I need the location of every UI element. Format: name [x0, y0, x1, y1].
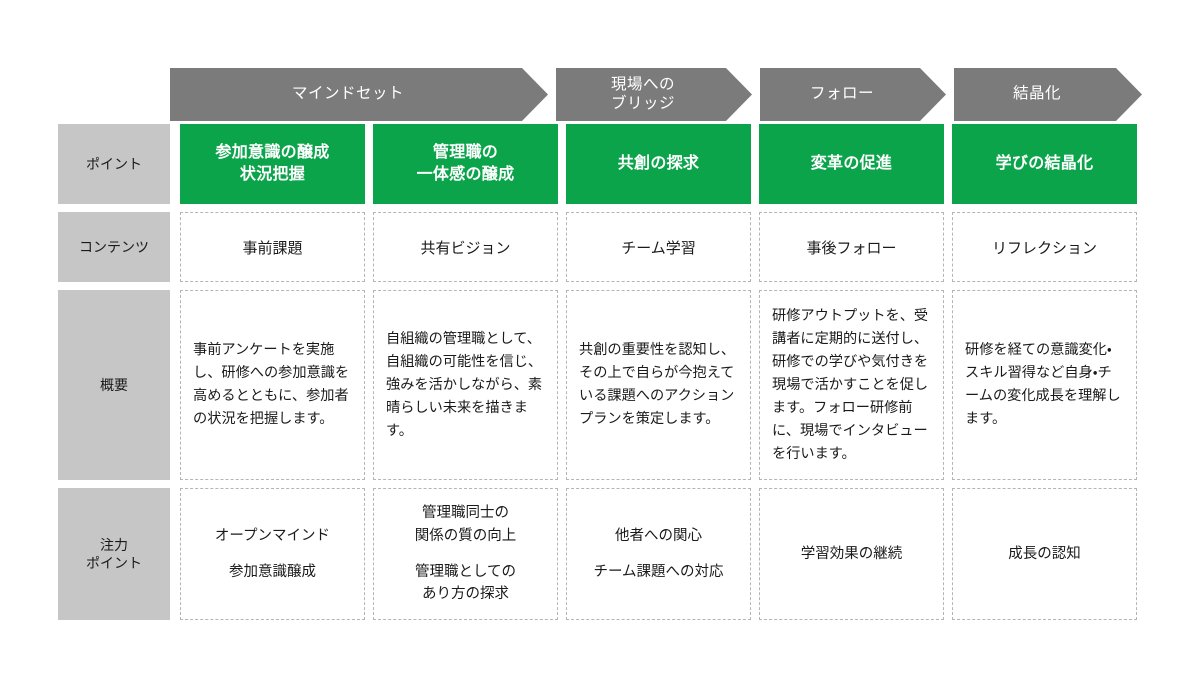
focus-text-top: 成長の認知 [1008, 543, 1081, 565]
focus-cell: 他者への関心 チーム課題への対応 [566, 488, 751, 620]
row-contents: コンテンツ 事前課題 共有ビジョン チーム学習 事後フォロー リフレクション [58, 212, 1137, 282]
point-cell: 変革の促進 [759, 124, 944, 204]
overview-text: 共創の重要性を認知し、その上で自らが今抱えている課題へのアクションプランを策定し… [579, 339, 738, 431]
contents-cell: リフレクション [952, 212, 1137, 282]
point-cell: 参加意識の醸成 状況把握 [180, 124, 365, 204]
row-focus-cells: オープンマインド 参加意識醸成 管理職同士の 関係の質の向上 管理職としての あ… [180, 488, 1137, 620]
phase-arrow-mindset: マインドセット [170, 68, 548, 121]
focus-text-bottom: 管理職としての あり方の探求 [415, 561, 516, 606]
overview-text: 研修アウトプットを、受講者に定期的に送付し、研修での学びや気付きを現場で活かすこ… [772, 305, 931, 466]
overview-cell: 自組織の管理職として、自組織の可能性を信じ、強みを活かしながら、素晴らしい未来を… [373, 290, 558, 480]
focus-cell: オープンマインド 参加意識醸成 [180, 488, 365, 620]
focus-cell: 学習効果の継続 [759, 488, 944, 620]
row-point-cells: 参加意識の醸成 状況把握 管理職の 一体感の醸成 共創の探求 変革の促進 学びの… [180, 124, 1137, 204]
focus-text-top: オープンマインド [215, 525, 330, 547]
point-cell: 管理職の 一体感の醸成 [373, 124, 558, 204]
focus-text-bottom: 参加意識醸成 [229, 561, 316, 583]
overview-cell: 事前アンケートを実施し、研修への参加意識を高めるとともに、参加者の状況を把握しま… [180, 290, 365, 480]
focus-cell: 成長の認知 [952, 488, 1137, 620]
row-overview: 概要 事前アンケートを実施し、研修への参加意識を高めるとともに、参加者の状況を把… [58, 290, 1137, 480]
overview-cell: 研修アウトプットを、受講者に定期的に送付し、研修での学びや気付きを現場で活かすこ… [759, 290, 944, 480]
phase-arrow-crystallization: 結晶化 [954, 68, 1142, 121]
row-point: ポイント 参加意識の醸成 状況把握 管理職の 一体感の醸成 共創の探求 変革の促… [58, 124, 1137, 204]
overview-text: 自組織の管理職として、自組織の可能性を信じ、強みを活かしながら、素晴らしい未来を… [386, 328, 545, 443]
row-contents-cells: 事前課題 共有ビジョン チーム学習 事後フォロー リフレクション [180, 212, 1137, 282]
focus-text-top: 他者への関心 [615, 525, 702, 547]
contents-cell: チーム学習 [566, 212, 751, 282]
point-cell: 共創の探求 [566, 124, 751, 204]
phase-arrow-label: 現場への ブリッジ [611, 76, 697, 113]
contents-cell: 事後フォロー [759, 212, 944, 282]
row-label-focus: 注力 ポイント [58, 488, 170, 620]
phase-arrow-bridge: 現場への ブリッジ [556, 68, 752, 121]
contents-cell: 事前課題 [180, 212, 365, 282]
row-overview-cells: 事前アンケートを実施し、研修への参加意識を高めるとともに、参加者の状況を把握しま… [180, 290, 1137, 480]
focus-text-bottom: チーム課題への対応 [593, 561, 723, 583]
row-label-contents: コンテンツ [58, 212, 170, 282]
phase-arrow-label: マインドセット [292, 85, 426, 103]
row-focus: 注力 ポイント オープンマインド 参加意識醸成 管理職同士の 関係の質の向上 管… [58, 488, 1137, 620]
overview-text: 研修を経ての意識変化・スキル習得など自身・チームの変化成長を理解します。 [965, 339, 1124, 431]
focus-cell: 管理職同士の 関係の質の向上 管理職としての あり方の探求 [373, 488, 558, 620]
overview-cell: 研修を経ての意識変化・スキル習得など自身・チームの変化成長を理解します。 [952, 290, 1137, 480]
row-label-point: ポイント [58, 124, 170, 204]
overview-text: 事前アンケートを実施し、研修への参加意識を高めるとともに、参加者の状況を把握しま… [193, 339, 352, 431]
matrix-grid: ポイント 参加意識の醸成 状況把握 管理職の 一体感の醸成 共創の探求 変革の促… [58, 124, 1137, 620]
contents-cell: 共有ビジョン [373, 212, 558, 282]
point-cell: 学びの結晶化 [952, 124, 1137, 204]
row-label-overview: 概要 [58, 290, 170, 480]
phase-arrow-label: 結晶化 [1013, 85, 1083, 103]
phase-arrow-label: フォロー [810, 85, 896, 103]
phase-arrow-band: マインドセット 現場への ブリッジ フォロー 結晶化 [170, 68, 1142, 121]
focus-text-top: 管理職同士の 関係の質の向上 [415, 502, 517, 547]
phase-arrow-follow: フォロー [760, 68, 946, 121]
overview-cell: 共創の重要性を認知し、その上で自らが今抱えている課題へのアクションプランを策定し… [566, 290, 751, 480]
diagram-canvas: マインドセット 現場への ブリッジ フォロー 結晶化 ポイント 参加意識の醸成 … [0, 0, 1200, 675]
focus-text-top: 学習効果の継続 [801, 543, 903, 565]
